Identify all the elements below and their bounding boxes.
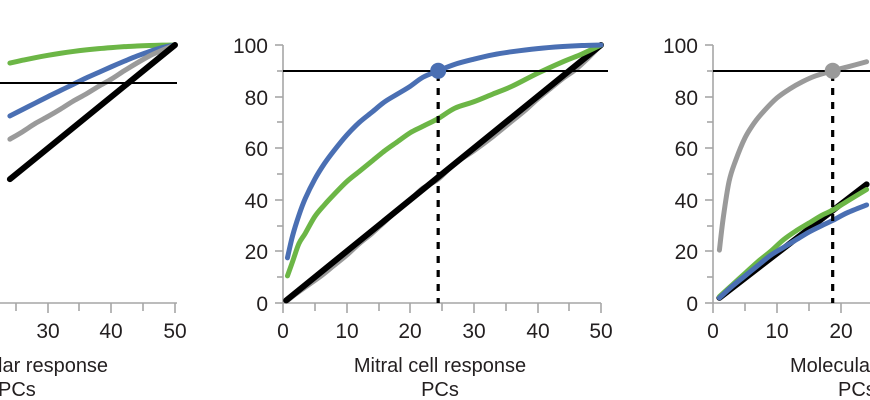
left-axis-title: lar response [0, 355, 108, 377]
right-ytick-100: 100 [663, 35, 698, 58]
middle-ytick-100: 100 [233, 35, 268, 58]
right-xtick-10: 10 [765, 320, 788, 343]
right-xtick-0: 0 [707, 320, 719, 343]
middle-xtick-30: 30 [462, 320, 485, 343]
middle-ytick-60: 60 [245, 138, 268, 161]
middle-xtick-10: 10 [335, 320, 358, 343]
middle-ytick-20: 20 [245, 241, 268, 264]
right-ytick-0: 0 [686, 293, 698, 316]
middle-axis-subtitle: PCs [421, 379, 459, 400]
right-xtick-20: 20 [829, 320, 852, 343]
right-ytick-60: 60 [675, 138, 698, 161]
middle-ytick-40: 40 [245, 190, 268, 213]
middle-xtick-50: 50 [589, 320, 612, 343]
pca-variance-figure: 30 40 50 lar response PCs [0, 0, 870, 400]
middle-axis-title: Mitral cell response [354, 355, 526, 377]
left-axis-subtitle: PCs [0, 379, 36, 400]
threshold-marker-middle [430, 63, 446, 79]
middle-ytick-0: 0 [256, 293, 268, 316]
middle-ytick-80: 80 [245, 87, 268, 110]
left-xtick-50: 50 [163, 320, 186, 343]
middle-xtick-0: 0 [277, 320, 289, 343]
middle-xtick-40: 40 [526, 320, 549, 343]
right-ytick-40: 40 [675, 190, 698, 213]
right-ytick-20: 20 [675, 241, 698, 264]
left-xtick-40: 40 [99, 320, 122, 343]
right-axis-subtitle: PCs [838, 379, 870, 400]
threshold-marker-right [825, 63, 841, 79]
right-axis-title: Molecular [790, 355, 870, 377]
right-ytick-80: 80 [675, 87, 698, 110]
middle-xtick-20: 20 [398, 320, 421, 343]
left-xtick-30: 30 [36, 320, 59, 343]
